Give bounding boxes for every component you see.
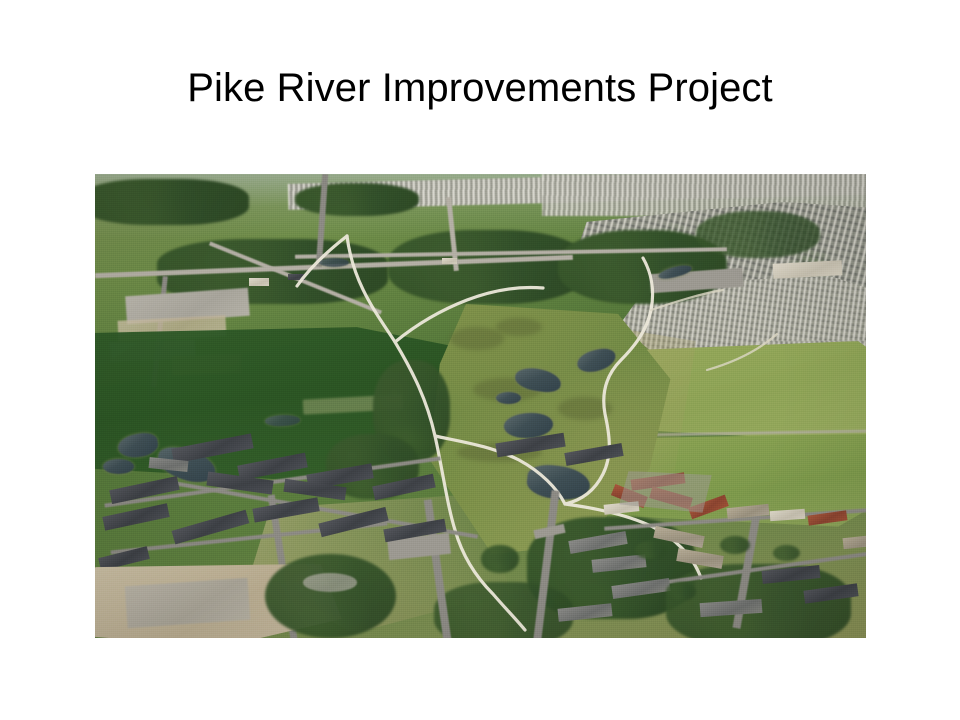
woodland-bottom-center [434, 582, 573, 638]
street-trees-lower-right-1 [635, 541, 666, 560]
farm-building-3 [442, 258, 457, 264]
retention-pond-west-3 [103, 459, 134, 474]
wetland-mottle-1 [450, 327, 504, 350]
mound-vegetation [265, 554, 396, 638]
pond-north [319, 258, 350, 267]
presentation-slide: Pike River Improvements Project [0, 0, 960, 720]
mound-bare-top [303, 573, 357, 592]
farm-building-2 [288, 274, 305, 280]
page-title: Pike River Improvements Project [0, 66, 960, 110]
aerial-photograph [95, 174, 866, 638]
wetland-mottle-4 [558, 397, 612, 420]
pond-3 [496, 392, 521, 404]
street-trees-lower-right-4 [666, 582, 697, 601]
farm-building-1 [249, 278, 269, 285]
woodland-upper-left [95, 179, 249, 225]
street-trees-center [481, 545, 520, 573]
woodland-upper-center [295, 183, 418, 215]
